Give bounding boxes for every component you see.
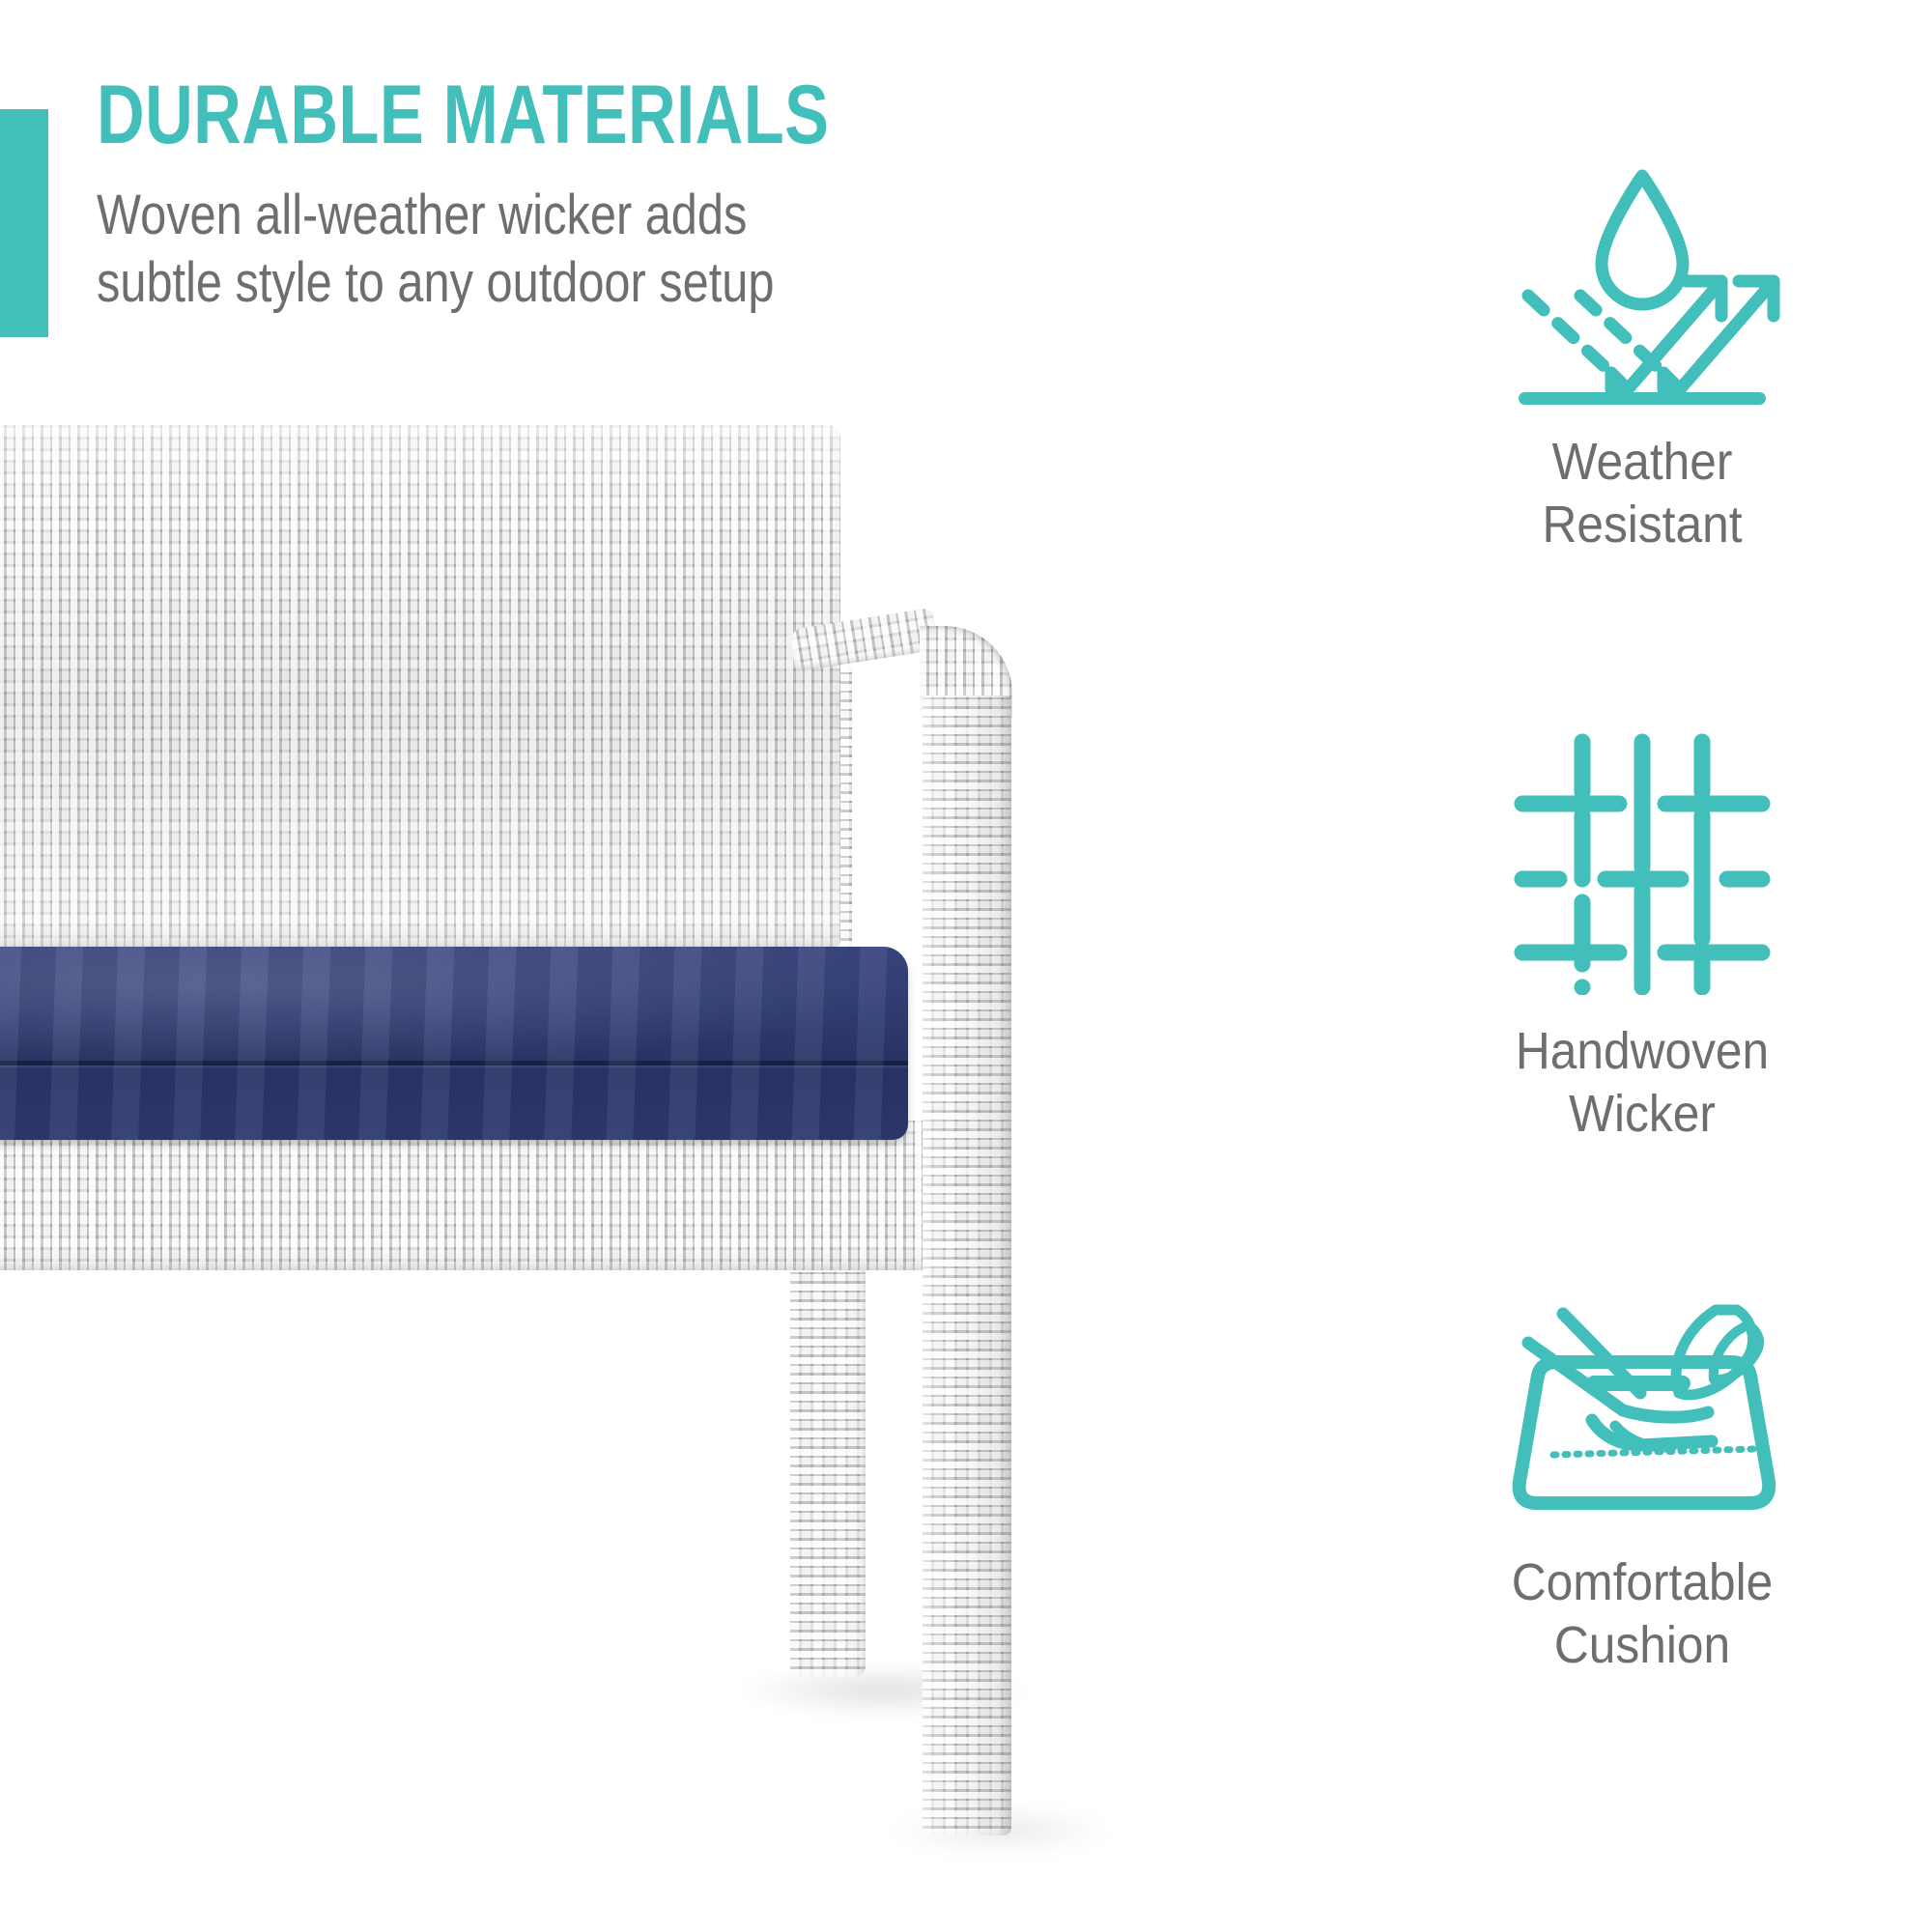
page-title: DURABLE MATERIALS <box>97 73 985 156</box>
infographic-canvas: DURABLE MATERIALS Woven all-weather wick… <box>0 0 1932 1932</box>
feature-label: Handwoven Wicker <box>1376 1020 1909 1146</box>
cushion-top-surface <box>0 947 908 1061</box>
seat-cushion <box>0 947 908 1140</box>
feature-item-comfortable-cushion: Comfortable Cushion <box>1352 1275 1932 1677</box>
header-block: DURABLE MATERIALS Woven all-weather wick… <box>97 73 1207 316</box>
hand-pressing-cushion-icon <box>1478 1275 1806 1526</box>
feature-label: Weather Resistant <box>1376 431 1909 556</box>
floor-shadow <box>676 1652 1092 1729</box>
basket-weave-icon <box>1497 724 1787 995</box>
feature-list: Weather Resistant <box>1352 145 1932 1806</box>
bench-rear-leg <box>790 1270 866 1676</box>
feature-label: Comfortable Cushion <box>1376 1551 1909 1677</box>
accent-bar <box>0 109 48 337</box>
surface-line <box>1519 392 1766 405</box>
bench-seat-frame <box>0 1121 937 1270</box>
bench-front-leg-post <box>923 696 1011 1835</box>
feature-item-weather-resistant: Weather Resistant <box>1352 155 1932 556</box>
page-subtitle: Woven all-weather wicker adds subtle sty… <box>97 182 1030 316</box>
product-photo <box>0 425 1217 1874</box>
feature-item-handwoven-wicker: Handwoven Wicker <box>1352 724 1932 1146</box>
backrest-shading <box>0 425 840 947</box>
bench-backrest <box>0 425 840 947</box>
front-post-shading <box>923 696 1011 1835</box>
cushion-piping-seam <box>0 1061 908 1065</box>
water-droplet-repel-icon <box>1497 155 1787 406</box>
